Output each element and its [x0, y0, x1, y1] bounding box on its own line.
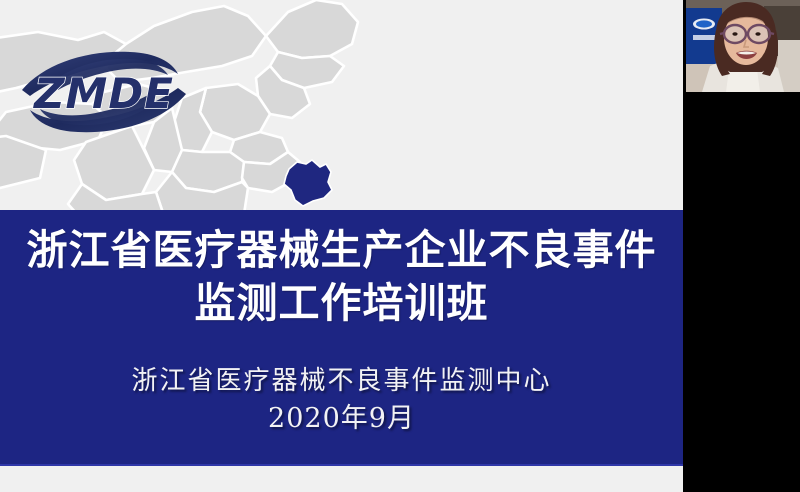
slide-title: 浙江省医疗器械生产企业不良事件 监测工作培训班: [0, 224, 683, 330]
slide-title-line-2: 监测工作培训班: [0, 277, 683, 330]
slide-title-line-1: 浙江省医疗器械生产企业不良事件: [0, 224, 683, 277]
zmde-logo-text: ZMDE: [32, 69, 174, 118]
shared-slide: ZMDE 浙江省医疗器械生产企业不良事件 监测工作培训班 浙江省医疗器械不良事件…: [0, 0, 683, 492]
slide-subtitle-organization: 浙江省医疗器械不良事件监测中心: [0, 362, 683, 400]
participant-video-tile[interactable]: [686, 0, 800, 92]
slide-bottom-strip: [0, 468, 683, 492]
video-conference-screen: ZMDE 浙江省医疗器械生产企业不良事件 监测工作培训班 浙江省医疗器械不良事件…: [0, 0, 800, 492]
slide-subtitle: 浙江省医疗器械不良事件监测中心 2020年9月: [0, 362, 683, 438]
slide-subtitle-date: 2020年9月: [0, 400, 683, 438]
slide-title-band: 浙江省医疗器械生产企业不良事件 监测工作培训班 浙江省医疗器械不良事件监测中心 …: [0, 210, 683, 466]
zmde-logo: ZMDE: [14, 42, 194, 140]
